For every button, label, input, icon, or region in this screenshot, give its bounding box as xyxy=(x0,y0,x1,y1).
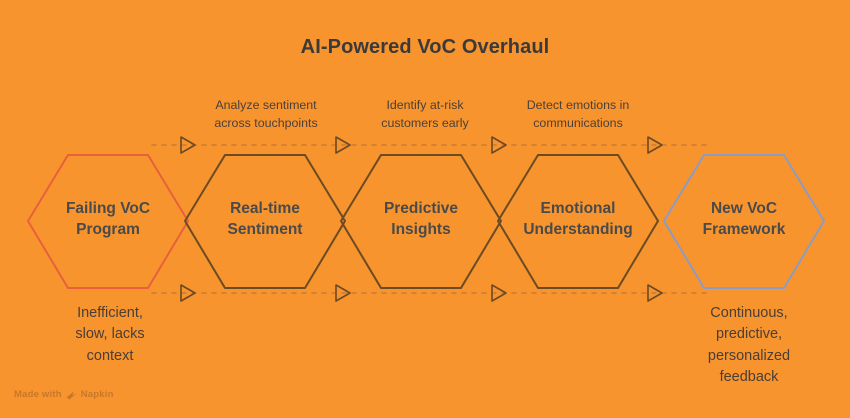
edge-label-detect-emotions: Detect emotions in communications xyxy=(488,97,668,132)
arrowhead-icon xyxy=(336,285,350,301)
connector-top xyxy=(152,137,712,153)
arrowhead-icon xyxy=(648,137,662,153)
napkin-watermark[interactable]: Made with Napkin xyxy=(14,389,114,400)
side-note-future-state: Continuous, predictive, personalized fee… xyxy=(659,303,839,389)
node-label-emotional-understanding: Emotional Understanding xyxy=(488,199,668,241)
arrowhead-icon xyxy=(492,285,506,301)
arrowhead-icon xyxy=(181,137,195,153)
node-label-predictive-insights: Predictive Insights xyxy=(331,199,511,241)
arrowhead-icon xyxy=(492,137,506,153)
watermark-prefix: Made with xyxy=(14,389,62,400)
diagram-canvas: AI-Powered VoC Overhaul xyxy=(0,0,850,418)
napkin-logo-icon xyxy=(66,390,77,400)
arrowhead-icon xyxy=(648,285,662,301)
node-label-new-voc-framework: New VoC Framework xyxy=(654,199,834,241)
arrowhead-icon xyxy=(181,285,195,301)
connector-bottom xyxy=(152,285,712,301)
arrowhead-icon xyxy=(336,137,350,153)
node-label-failing-voc-program: Failing VoC Program xyxy=(18,199,198,241)
page-title: AI-Powered VoC Overhaul xyxy=(0,36,850,59)
watermark-brand: Napkin xyxy=(81,389,114,400)
edge-label-analyze-sentiment: Analyze sentiment across touchpoints xyxy=(176,97,356,132)
side-note-current-state: Inefficient, slow, lacks context xyxy=(20,303,200,367)
node-label-real-time-sentiment: Real-time Sentiment xyxy=(175,199,355,241)
